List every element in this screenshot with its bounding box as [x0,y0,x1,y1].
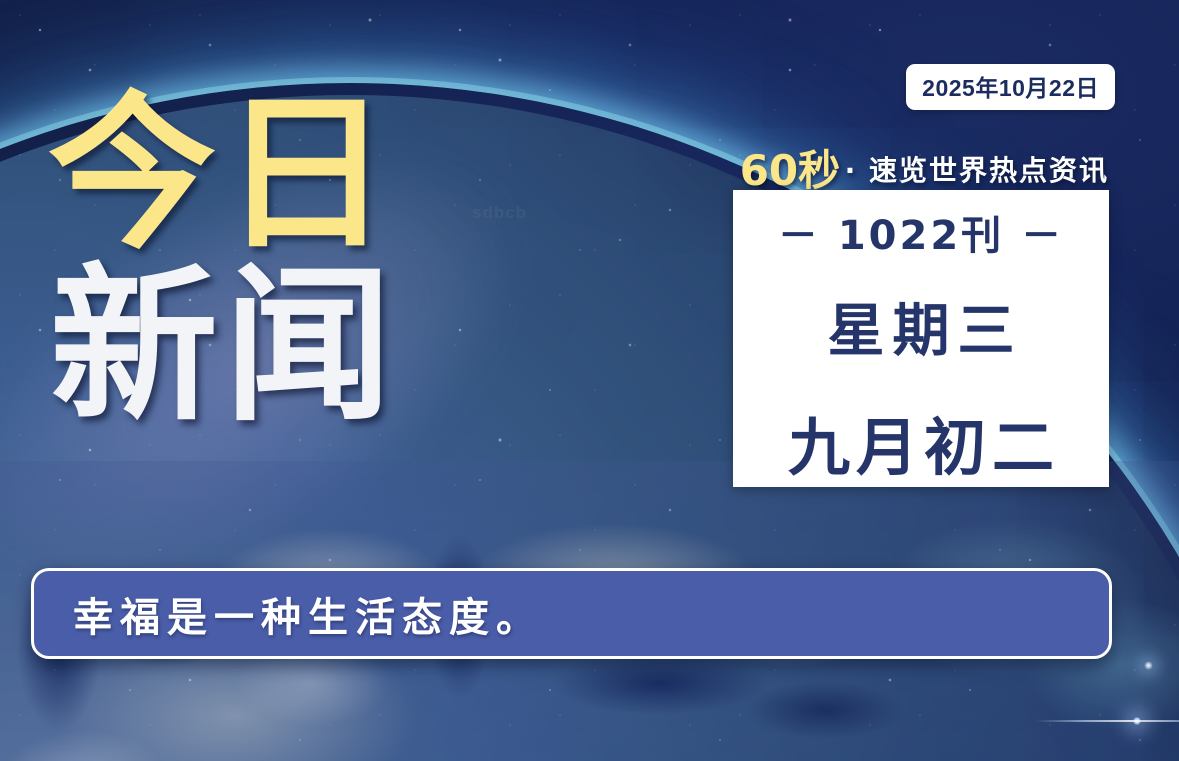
quote-banner: 幸福是一种生活态度。 [31,568,1112,659]
date-badge: 2025年10月22日 [906,64,1115,110]
tagline: 60秒 · 速览世界热点资讯 [740,137,1109,198]
tagline-description: · 速览世界热点资讯 [845,154,1109,187]
issue-info-card: － 1022刊 － 星期三 九月初二 [733,190,1109,487]
lunar-date-label: 九月初二 [782,397,1060,487]
poster-content: 今日 新闻 2025年10月22日 60秒 · 速览世界热点资讯 － 1022刊… [0,0,1179,761]
poster-headline: 今日 新闻 [48,96,398,426]
poster-canvas: sdbcb 今日 新闻 2025年10月22日 60秒 · 速览世界热点资讯 －… [0,0,1179,761]
weekday-label: 星期三 [820,285,1023,367]
headline-line-today: 今日 [48,96,398,254]
headline-line-news: 新闻 [50,268,398,426]
quote-text: 幸福是一种生活态度。 [34,585,543,643]
tagline-duration: 60秒 [740,146,840,195]
issue-number: － 1022刊 － [778,203,1064,261]
